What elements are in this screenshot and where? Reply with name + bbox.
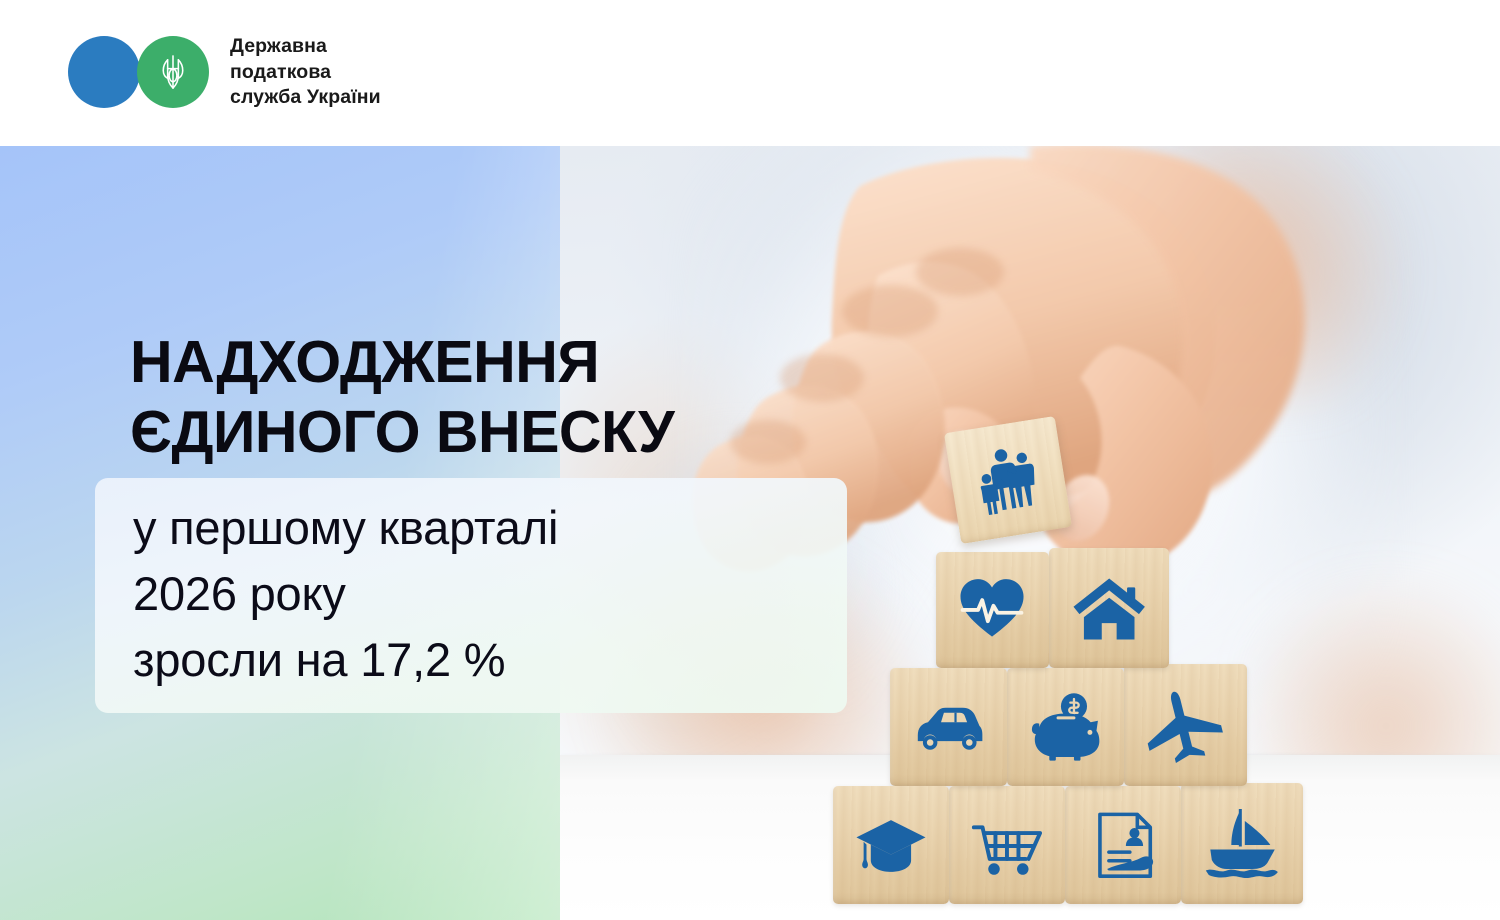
wooden-block-health bbox=[936, 552, 1049, 668]
header-bar: Державна податкова служба України bbox=[0, 0, 1500, 146]
wooden-block-travel bbox=[1124, 664, 1247, 786]
graduation-cap-icon bbox=[855, 808, 927, 881]
shopping-cart-icon bbox=[971, 808, 1043, 881]
wooden-block-savings bbox=[1007, 668, 1124, 786]
car-icon bbox=[912, 690, 985, 763]
house-icon bbox=[1072, 571, 1146, 645]
family-icon bbox=[968, 440, 1047, 519]
wooden-block-contract bbox=[1065, 786, 1181, 904]
wooden-block-education bbox=[833, 786, 949, 904]
wooden-block-housing bbox=[1049, 548, 1169, 668]
piggy-bank-icon bbox=[1029, 690, 1102, 763]
logo-green-circle-icon bbox=[137, 36, 209, 108]
wooden-block-vehicle bbox=[890, 668, 1007, 786]
page-subtitle: у першому кварталі 2026 року зросли на 1… bbox=[133, 495, 853, 693]
organization-name: Державна податкова служба України bbox=[230, 34, 381, 111]
airplane-icon bbox=[1147, 687, 1223, 763]
poster-canvas: НАДХОДЖЕННЯ ЄДИНОГО ВНЕСКУ у першому ква… bbox=[0, 0, 1500, 920]
page-title: НАДХОДЖЕННЯ ЄДИНОГО ВНЕСКУ bbox=[130, 327, 890, 467]
logo-blue-circle-icon bbox=[68, 36, 140, 108]
wooden-block-shipping bbox=[1181, 783, 1303, 904]
document-sign-icon bbox=[1087, 808, 1159, 881]
heart-pulse-icon bbox=[957, 574, 1027, 646]
wooden-block-shopping bbox=[949, 786, 1065, 904]
tryzub-icon bbox=[158, 54, 188, 90]
logo-lockup[interactable]: Державна податкова служба України bbox=[68, 34, 381, 111]
sailing-ship-icon bbox=[1204, 806, 1280, 881]
wooden-block-family bbox=[944, 416, 1072, 544]
